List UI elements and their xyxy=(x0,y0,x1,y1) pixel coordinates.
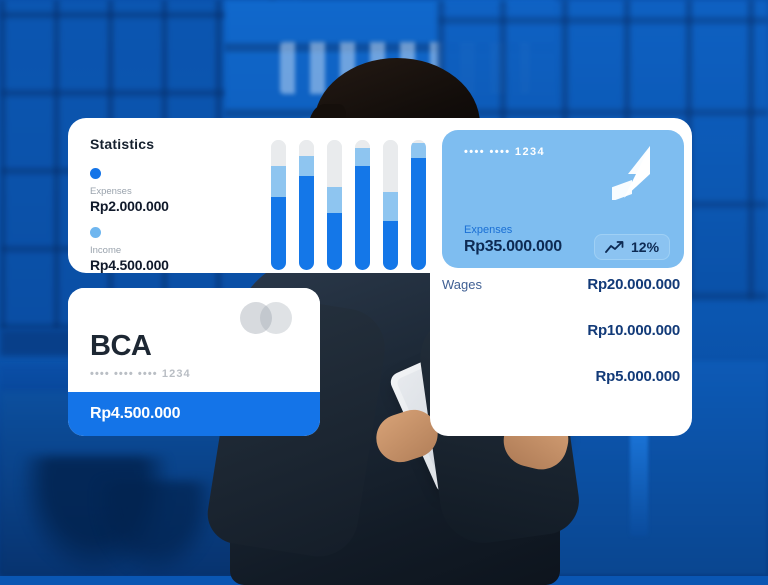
mastercard-circles-icon xyxy=(240,302,292,334)
transaction-list: Wages Rp20.000.000 Rp10.000.000 Rp5.000.… xyxy=(442,276,682,414)
statistics-card: Statistics Expenses Rp2.000.000 Income R… xyxy=(68,118,476,273)
mastercard-circle-right xyxy=(260,302,292,334)
expenses-card[interactable]: •••• •••• 1234 Expenses Rp35.000.000 12% xyxy=(442,130,684,268)
chart-bar-segment xyxy=(383,192,398,221)
transaction-amount: Rp10.000.000 xyxy=(587,322,680,339)
chart-bar-segment xyxy=(271,166,286,197)
chart-bar xyxy=(355,140,370,270)
chart-bar-segment xyxy=(299,176,314,270)
transaction-amount: Rp20.000.000 xyxy=(587,276,680,293)
chart-bar-segment xyxy=(411,143,426,159)
chart-bar-segment xyxy=(355,148,370,166)
chart-bar-segment xyxy=(411,158,426,270)
bca-balance-value: Rp4.500.000 xyxy=(90,405,180,423)
chart-bar-segment xyxy=(327,213,342,270)
bca-card[interactable]: BCA •••• •••• •••• 1234 Rp4.500.000 xyxy=(68,288,320,436)
brand-logo-icon xyxy=(610,144,662,200)
chart-bar-segment xyxy=(271,197,286,270)
legend-dot-expenses xyxy=(90,168,101,179)
transaction-label: Wages xyxy=(442,277,482,292)
card-masked-number: •••• •••• 1234 xyxy=(464,146,545,158)
bca-balance-footer: Rp4.500.000 xyxy=(68,392,320,436)
chart-bar-segment xyxy=(299,140,314,156)
bca-masked-number: •••• •••• •••• 1234 xyxy=(90,368,191,380)
chart-bar-segment xyxy=(383,140,398,192)
trend-up-icon xyxy=(605,241,625,254)
chart-bar-segment xyxy=(383,221,398,270)
chart-bar xyxy=(299,140,314,270)
trend-badge[interactable]: 12% xyxy=(594,234,670,260)
statistics-bar-chart xyxy=(271,140,461,270)
chart-bar-segment xyxy=(327,187,342,213)
chart-bar-segment xyxy=(299,156,314,177)
bca-brand-label: BCA xyxy=(90,330,151,363)
chart-bar xyxy=(411,140,426,270)
table-row[interactable]: Wages Rp20.000.000 xyxy=(442,276,682,322)
card-expenses-label: Expenses xyxy=(464,224,512,236)
chart-bar-segment xyxy=(355,166,370,270)
bca-card-top: BCA •••• •••• •••• 1234 xyxy=(68,288,320,392)
transaction-amount: Rp5.000.000 xyxy=(595,368,680,385)
table-row[interactable]: Rp5.000.000 xyxy=(442,368,682,414)
chart-bar xyxy=(383,140,398,270)
chart-bar xyxy=(327,140,342,270)
background-silhouette-b xyxy=(95,481,215,576)
chart-bar-segment xyxy=(271,140,286,166)
table-row[interactable]: Rp10.000.000 xyxy=(442,322,682,368)
trend-percent: 12% xyxy=(631,239,659,255)
chart-bar-segment xyxy=(327,140,342,187)
chart-bar-segment xyxy=(355,140,370,148)
card-expenses-value: Rp35.000.000 xyxy=(464,238,562,256)
legend-dot-income xyxy=(90,227,101,238)
chart-bar xyxy=(271,140,286,270)
